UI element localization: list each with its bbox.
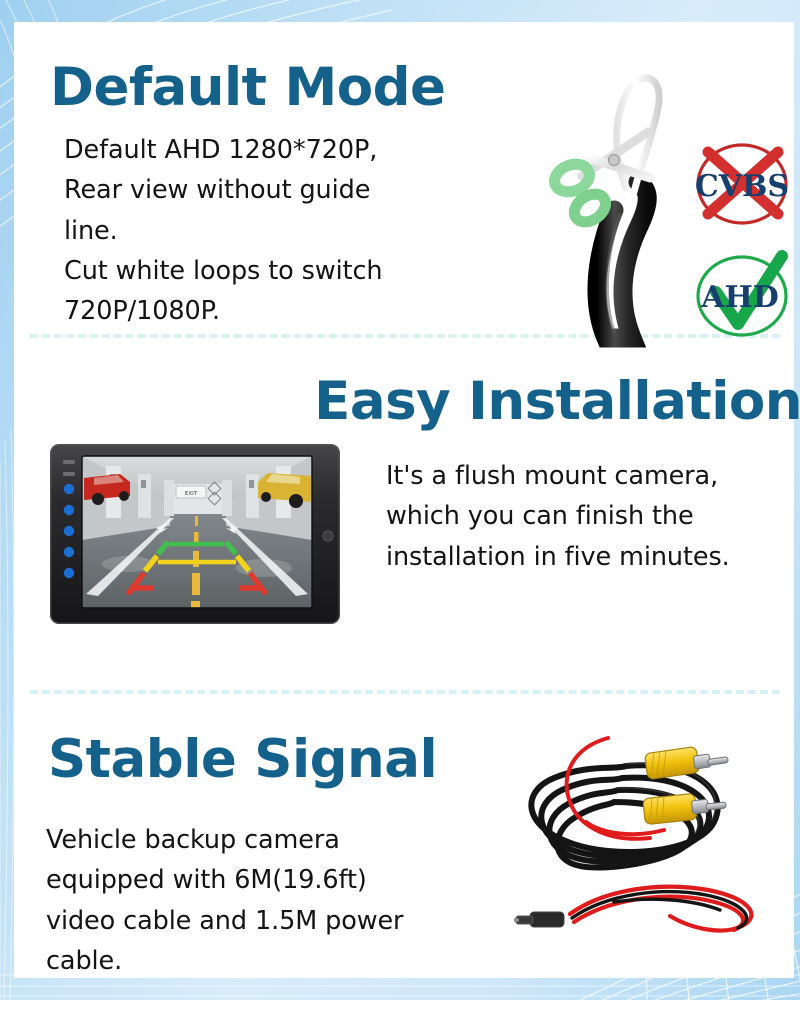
side-button-2 bbox=[64, 505, 74, 515]
monitor-svg: EXIT bbox=[50, 444, 340, 624]
side-button-5 bbox=[64, 568, 74, 578]
body-line: cable. bbox=[46, 946, 122, 976]
rca-connector-upper bbox=[644, 747, 728, 780]
section-stable-signal: Stable Signal Vehicle backup cameraequip… bbox=[14, 690, 800, 1022]
body-line: equipped with 6M(19.6ft) bbox=[46, 865, 367, 895]
section-headline-easy-installation: Easy Installation bbox=[314, 374, 800, 429]
body-line: Default AHD 1280*720P, bbox=[64, 135, 377, 165]
ahd-label: AHD bbox=[700, 280, 779, 315]
body-line: Cut white loops to switch bbox=[64, 256, 382, 286]
content-card: Default Mode Default AHD 1280*720P,Rear … bbox=[14, 22, 794, 978]
scissor-pivot bbox=[609, 155, 620, 166]
knob bbox=[323, 531, 333, 541]
cvbs-label: CVBS bbox=[695, 169, 789, 204]
side-button-3 bbox=[64, 526, 74, 536]
cable-illustration bbox=[494, 730, 794, 940]
head-unit-monitor-illustration: EXIT bbox=[50, 444, 340, 624]
body-line: 720P/1080P. bbox=[64, 296, 220, 326]
section-body-easy-installation: It's a flush mount camera,which you can … bbox=[386, 456, 786, 577]
section-default-mode: Default Mode Default AHD 1280*720P,Rear … bbox=[14, 22, 800, 334]
section-body-default-mode: Default AHD 1280*720P,Rear view without … bbox=[64, 130, 464, 331]
dc-plug-body bbox=[530, 912, 564, 927]
rca-pin-lower bbox=[706, 802, 727, 810]
screen-content: EXIT bbox=[82, 456, 312, 613]
body-line: Rear view without guide bbox=[64, 175, 370, 205]
dc-plug-tip bbox=[514, 918, 519, 922]
cvbs-badge-svg: CVBS bbox=[690, 140, 794, 228]
scissors-cable-svg bbox=[554, 60, 694, 345]
dc-barrel-plug bbox=[514, 912, 564, 927]
badge-ahd-enabled: AHD bbox=[690, 252, 794, 340]
body-line: It's a flush mount camera, bbox=[386, 461, 718, 491]
signal-format-badges: CVBS AHD bbox=[690, 140, 800, 345]
body-line: video cable and 1.5M power bbox=[46, 906, 403, 936]
section-headline-stable-signal: Stable Signal bbox=[48, 732, 437, 787]
ahd-badge-svg: AHD bbox=[690, 252, 794, 340]
scissors-cable-illustration bbox=[554, 60, 694, 345]
button-slot-2 bbox=[63, 472, 75, 476]
section-body-stable-signal: Vehicle backup cameraequipped with 6M(19… bbox=[46, 820, 476, 981]
body-line: Vehicle backup camera bbox=[46, 825, 340, 855]
side-button-1 bbox=[64, 484, 74, 494]
body-line: which you can finish the bbox=[386, 501, 694, 531]
rca-pin-upper bbox=[708, 757, 729, 766]
section-easy-installation: Easy Installation It's a flush mount cam… bbox=[14, 334, 800, 690]
exit-sign-text: EXIT bbox=[185, 491, 198, 497]
body-line: line. bbox=[64, 216, 118, 246]
section-headline-default-mode: Default Mode bbox=[50, 60, 446, 115]
button-slot-1 bbox=[63, 460, 75, 464]
side-button-4 bbox=[64, 547, 74, 557]
power-cable-assembly bbox=[514, 887, 751, 931]
badge-cvbs-disabled: CVBS bbox=[690, 140, 794, 228]
body-line: installation in five minutes. bbox=[386, 542, 730, 572]
cable-svg bbox=[494, 730, 794, 940]
